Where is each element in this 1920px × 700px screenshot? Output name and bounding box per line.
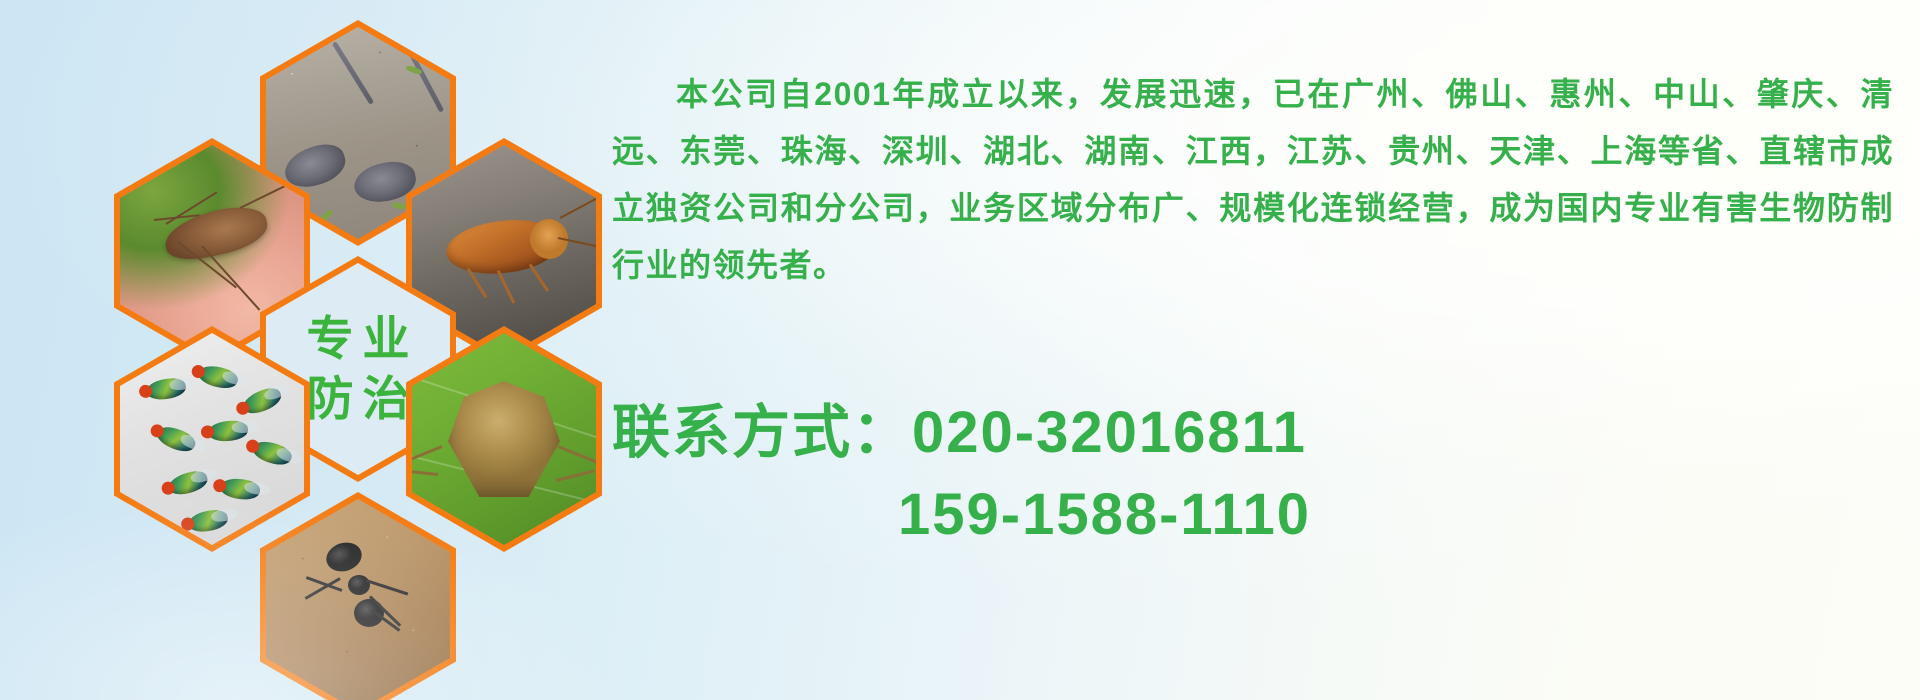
contact-primary-line[interactable]: 联系方式：020-32016811 xyxy=(612,392,1912,474)
fly-shape xyxy=(196,362,240,391)
ant-photo xyxy=(266,499,450,700)
stink-bug-photo xyxy=(412,333,596,545)
intro-copy-block: 本公司自2001年成立以来，发展迅速，已在广州、佛山、惠州、中山、肇庆、清远、东… xyxy=(612,34,1894,326)
stink-bug-leg xyxy=(556,469,596,482)
company-intro-paragraph: 本公司自2001年成立以来，发展迅速，已在广州、佛山、惠州、中山、肇庆、清远、东… xyxy=(612,66,1894,294)
mosquito-body xyxy=(161,201,272,266)
fly-shape xyxy=(166,468,210,498)
fly-shape xyxy=(207,420,248,443)
stink-bug-body xyxy=(448,381,560,497)
fly-shape xyxy=(154,422,199,456)
fly-shape xyxy=(240,384,285,418)
hex-tile-stink-bug-inner xyxy=(412,333,596,545)
mosquito-antenna xyxy=(240,183,291,209)
honeycomb-gallery: 专业 防治 xyxy=(92,8,592,568)
fly-shape xyxy=(187,508,230,535)
contact-block: 联系方式：020-32016811 159-1588-1110 xyxy=(612,392,1912,556)
honeycomb-label-line1: 专业 xyxy=(298,309,419,369)
ant-photo-texture xyxy=(266,499,450,700)
cockroach-leg xyxy=(497,270,515,304)
flies-photo xyxy=(120,333,304,545)
hex-tile-ant-inner xyxy=(266,499,450,700)
contact-secondary-line[interactable]: 159-1588-1110 xyxy=(612,474,1912,556)
honeycomb-label-line2: 防治 xyxy=(298,369,419,429)
mosquito-leg xyxy=(201,245,260,310)
fly-shape xyxy=(219,476,261,501)
promo-banner: 专业 防治 xyxy=(0,0,1920,700)
fly-shape xyxy=(145,376,187,401)
hex-tile-flies-inner xyxy=(120,333,304,545)
ant-thorax xyxy=(348,575,370,595)
cockroach-leg xyxy=(529,264,549,292)
cockroach-antenna xyxy=(560,191,596,219)
hex-tile-ant[interactable] xyxy=(260,492,456,700)
stink-bug-leg xyxy=(412,468,438,476)
fly-shape xyxy=(250,437,294,468)
stink-bug-leg xyxy=(557,445,596,464)
